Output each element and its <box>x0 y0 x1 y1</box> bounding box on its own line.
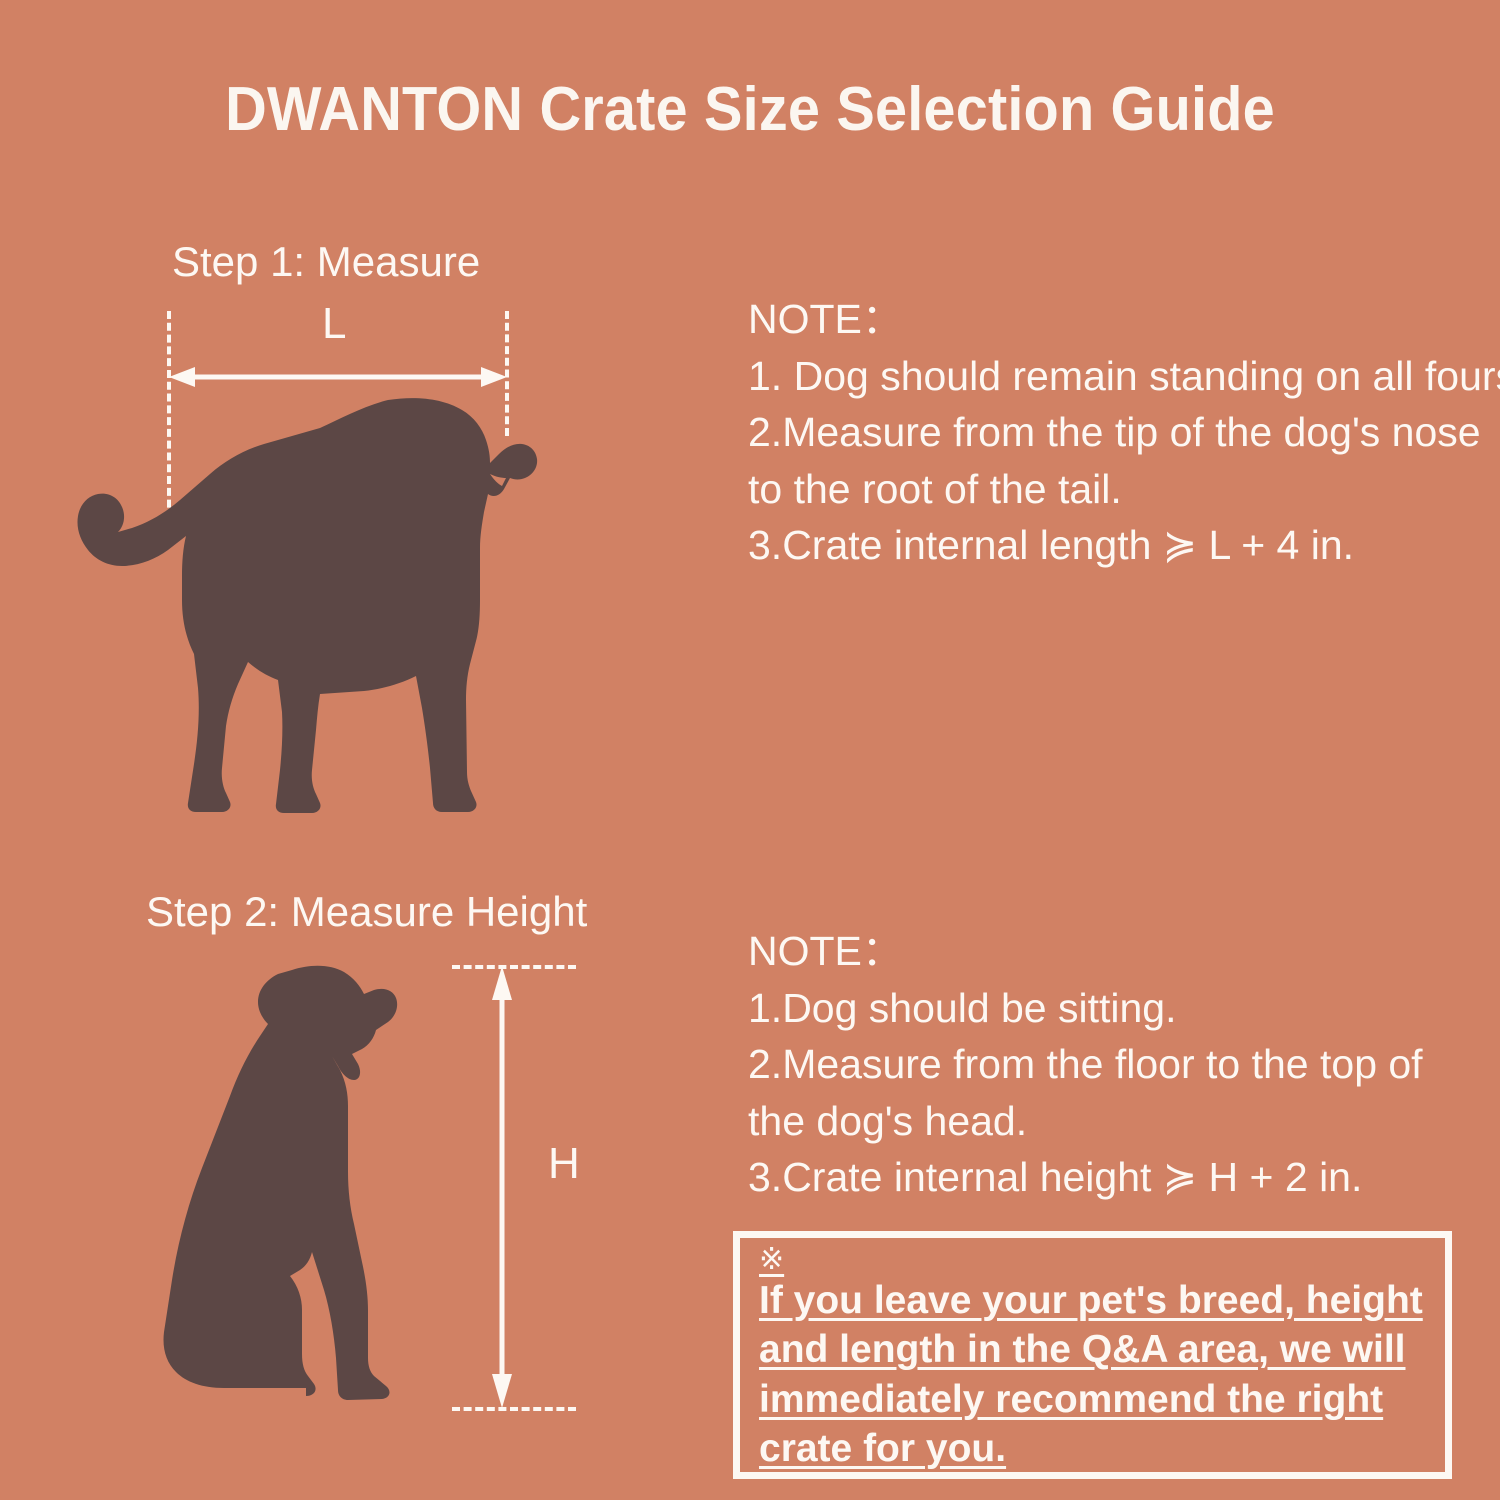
step-1-heading: Step 1: Measure <box>172 238 480 286</box>
reference-mark-icon: ※ <box>759 1244 1449 1276</box>
note-line: to the root of the tail. <box>748 461 1500 518</box>
qa-callout-box: ※ If you leave your pet's breed, height … <box>733 1231 1452 1479</box>
standing-dog-silhouette <box>70 388 540 818</box>
note-heading: NOTE： <box>748 923 1423 980</box>
note-line: 1.Dog should be sitting. <box>748 980 1423 1037</box>
note-heading: NOTE： <box>748 291 1500 348</box>
callout-line: immediately recommend the right <box>759 1375 1449 1425</box>
callout-line: and length in the Q&A area, we will <box>759 1325 1449 1375</box>
note-line: 1. Dog should remain standing on all fou… <box>748 348 1500 405</box>
step-2-note: NOTE： 1.Dog should be sitting. 2.Measure… <box>748 923 1423 1206</box>
note-line: 2.Measure from the tip of the dog's nose <box>748 404 1500 461</box>
note-line: the dog's head. <box>748 1093 1423 1150</box>
height-double-arrow-icon <box>489 966 515 1408</box>
height-dimension-label: H <box>548 1142 580 1186</box>
callout-line: crate for you. <box>759 1424 1449 1474</box>
length-double-arrow-icon <box>169 364 507 390</box>
callout-line: If you leave your pet's breed, height <box>759 1276 1449 1326</box>
note-line: 2.Measure from the floor to the top of <box>748 1036 1423 1093</box>
step-1-note: NOTE： 1. Dog should remain standing on a… <box>748 291 1500 574</box>
note-line: 3.Crate internal height ≽ H + 2 in. <box>748 1149 1423 1206</box>
qa-callout-content: ※ If you leave your pet's breed, height … <box>759 1244 1449 1474</box>
length-dimension-label: L <box>322 302 346 346</box>
page-title: DWANTON Crate Size Selection Guide <box>53 74 1448 145</box>
note-line: 3.Crate internal length ≽ L + 4 in. <box>748 517 1500 574</box>
crate-size-guide-poster: DWANTON Crate Size Selection Guide Step … <box>0 0 1500 1500</box>
step-2-heading: Step 2: Measure Height <box>146 888 587 936</box>
sitting-dog-silhouette <box>162 962 442 1410</box>
